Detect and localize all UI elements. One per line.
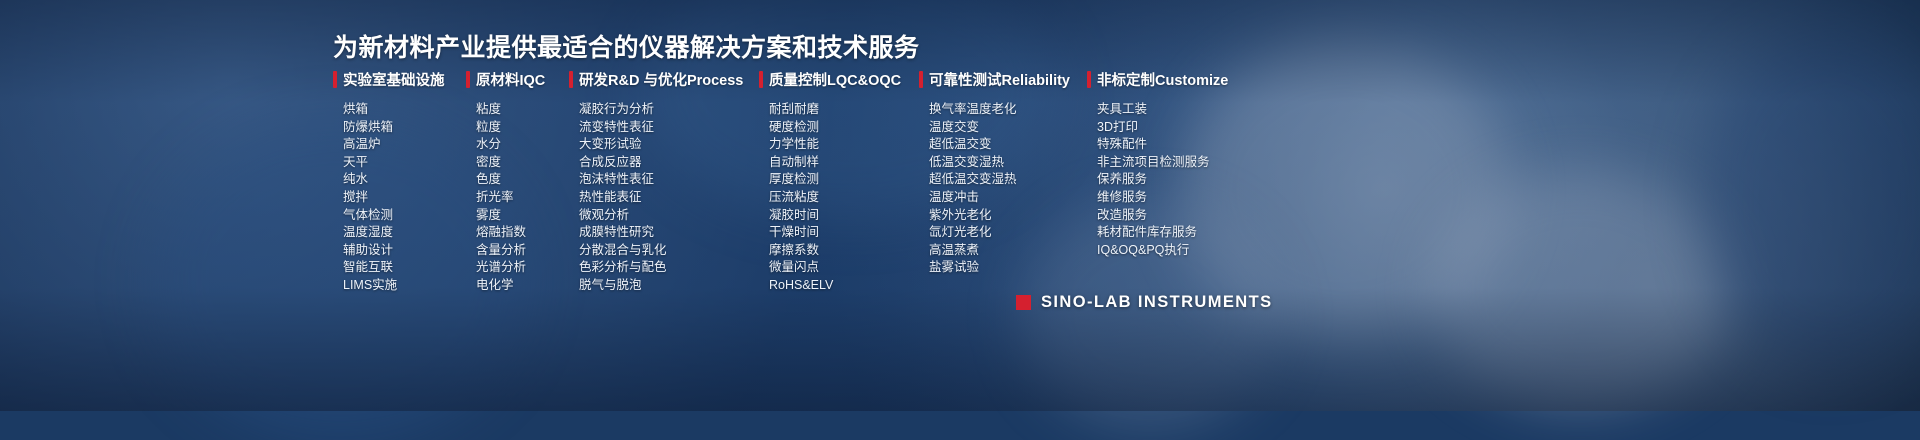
list-item: 自动制样 <box>769 154 919 172</box>
category-column: 研发R&D 与优化Process凝胶行为分析流变特性表征大变形试验合成反应器泡沫… <box>569 68 759 295</box>
category-item-list: 烘箱防爆烘箱高温炉天平纯水搅拌气体检测温度湿度辅助设计智能互联LIMS实施 <box>333 101 466 295</box>
list-item: 超低温交变 <box>929 136 1087 154</box>
category-header: 质量控制LQC&OQC <box>759 68 919 90</box>
category-title: 研发R&D 与优化Process <box>579 69 743 90</box>
category-header: 原材料IQC <box>466 68 569 90</box>
category-columns: 实验室基础设施烘箱防爆烘箱高温炉天平纯水搅拌气体检测温度湿度辅助设计智能互联LI… <box>333 68 1247 295</box>
list-item: 耐刮耐磨 <box>769 101 919 119</box>
list-item: 纯水 <box>343 171 466 189</box>
list-item: 紫外光老化 <box>929 207 1087 225</box>
list-item: 粒度 <box>476 119 569 137</box>
list-item: 耗材配件库存服务 <box>1097 224 1247 242</box>
list-item: IQ&OQ&PQ执行 <box>1097 242 1247 260</box>
category-item-list: 换气率温度老化温度交变超低温交变低温交变湿热超低温交变湿热温度冲击紫外光老化氙灯… <box>919 101 1087 277</box>
accent-bar-icon <box>466 71 470 88</box>
list-item: 气体检测 <box>343 207 466 225</box>
list-item: 硬度检测 <box>769 119 919 137</box>
category-column: 非标定制Customize夹具工装3D打印特殊配件非主流项目检测服务保养服务维修… <box>1087 68 1247 295</box>
list-item: 凝胶时间 <box>769 207 919 225</box>
list-item: 高温蒸煮 <box>929 242 1087 260</box>
list-item: 流变特性表征 <box>579 119 759 137</box>
category-header: 非标定制Customize <box>1087 68 1247 90</box>
category-item-list: 粘度粒度水分密度色度折光率雾度熔融指数含量分析光谱分析电化学 <box>466 101 569 295</box>
list-item: 3D打印 <box>1097 119 1247 137</box>
list-item: 摩擦系数 <box>769 242 919 260</box>
category-title: 实验室基础设施 <box>343 69 445 90</box>
list-item: 水分 <box>476 136 569 154</box>
list-item: 改造服务 <box>1097 207 1247 225</box>
category-title: 原材料IQC <box>476 69 545 90</box>
category-column: 实验室基础设施烘箱防爆烘箱高温炉天平纯水搅拌气体检测温度湿度辅助设计智能互联LI… <box>333 68 466 295</box>
list-item: 压流粘度 <box>769 189 919 207</box>
list-item: 分散混合与乳化 <box>579 242 759 260</box>
list-item: 特殊配件 <box>1097 136 1247 154</box>
list-item: 智能互联 <box>343 259 466 277</box>
list-item: 大变形试验 <box>579 136 759 154</box>
list-item: 维修服务 <box>1097 189 1247 207</box>
category-item-list: 耐刮耐磨硬度检测力学性能自动制样厚度检测压流粘度凝胶时间干燥时间摩擦系数微量闪点… <box>759 101 919 295</box>
list-item: 脱气与脱泡 <box>579 277 759 295</box>
list-item: 密度 <box>476 154 569 172</box>
category-item-list: 凝胶行为分析流变特性表征大变形试验合成反应器泡沫特性表征热性能表征微观分析成膜特… <box>569 101 759 295</box>
list-item: 防爆烘箱 <box>343 119 466 137</box>
brand-square-icon <box>1016 295 1031 310</box>
list-item: 微观分析 <box>579 207 759 225</box>
list-item: 辅助设计 <box>343 242 466 260</box>
list-item: 温度湿度 <box>343 224 466 242</box>
brand-lockup: SINO-LAB INSTRUMENTS <box>1016 293 1273 312</box>
page-title: 为新材料产业提供最适合的仪器解决方案和技术服务 <box>333 28 920 64</box>
category-title: 可靠性测试Reliability <box>929 69 1070 90</box>
list-item: 色度 <box>476 171 569 189</box>
category-title: 质量控制LQC&OQC <box>769 69 901 90</box>
list-item: 泡沫特性表征 <box>579 171 759 189</box>
list-item: 光谱分析 <box>476 259 569 277</box>
list-item: 夹具工装 <box>1097 101 1247 119</box>
list-item: LIMS实施 <box>343 277 466 295</box>
category-column: 质量控制LQC&OQC耐刮耐磨硬度检测力学性能自动制样厚度检测压流粘度凝胶时间干… <box>759 68 919 295</box>
accent-bar-icon <box>569 71 573 88</box>
list-item: 合成反应器 <box>579 154 759 172</box>
list-item: 凝胶行为分析 <box>579 101 759 119</box>
accent-bar-icon <box>1087 71 1091 88</box>
list-item: 力学性能 <box>769 136 919 154</box>
list-item: 温度交变 <box>929 119 1087 137</box>
list-item: 熔融指数 <box>476 224 569 242</box>
list-item: 粘度 <box>476 101 569 119</box>
category-header: 研发R&D 与优化Process <box>569 68 759 90</box>
brand-name: SINO-LAB INSTRUMENTS <box>1041 293 1273 312</box>
list-item: RoHS&ELV <box>769 277 919 295</box>
list-item: 折光率 <box>476 189 569 207</box>
list-item: 非主流项目检测服务 <box>1097 154 1247 172</box>
category-header: 实验室基础设施 <box>333 68 466 90</box>
list-item: 低温交变湿热 <box>929 154 1087 172</box>
list-item: 换气率温度老化 <box>929 101 1087 119</box>
list-item: 含量分析 <box>476 242 569 260</box>
list-item: 微量闪点 <box>769 259 919 277</box>
list-item: 超低温交变湿热 <box>929 171 1087 189</box>
poster-content: 为新材料产业提供最适合的仪器解决方案和技术服务 实验室基础设施烘箱防爆烘箱高温炉… <box>0 0 1920 411</box>
list-item: 搅拌 <box>343 189 466 207</box>
list-item: 热性能表征 <box>579 189 759 207</box>
list-item: 干燥时间 <box>769 224 919 242</box>
list-item: 高温炉 <box>343 136 466 154</box>
category-column: 可靠性测试Reliability换气率温度老化温度交变超低温交变低温交变湿热超低… <box>919 68 1087 295</box>
list-item: 保养服务 <box>1097 171 1247 189</box>
category-header: 可靠性测试Reliability <box>919 68 1087 90</box>
list-item: 烘箱 <box>343 101 466 119</box>
category-title: 非标定制Customize <box>1097 69 1228 90</box>
list-item: 色彩分析与配色 <box>579 259 759 277</box>
list-item: 雾度 <box>476 207 569 225</box>
list-item: 氙灯光老化 <box>929 224 1087 242</box>
list-item: 成膜特性研究 <box>579 224 759 242</box>
accent-bar-icon <box>919 71 923 88</box>
list-item: 电化学 <box>476 277 569 295</box>
category-column: 原材料IQC粘度粒度水分密度色度折光率雾度熔融指数含量分析光谱分析电化学 <box>466 68 569 295</box>
accent-bar-icon <box>333 71 337 88</box>
list-item: 厚度检测 <box>769 171 919 189</box>
list-item: 天平 <box>343 154 466 172</box>
list-item: 盐雾试验 <box>929 259 1087 277</box>
list-item: 温度冲击 <box>929 189 1087 207</box>
accent-bar-icon <box>759 71 763 88</box>
category-item-list: 夹具工装3D打印特殊配件非主流项目检测服务保养服务维修服务改造服务耗材配件库存服… <box>1087 101 1247 259</box>
